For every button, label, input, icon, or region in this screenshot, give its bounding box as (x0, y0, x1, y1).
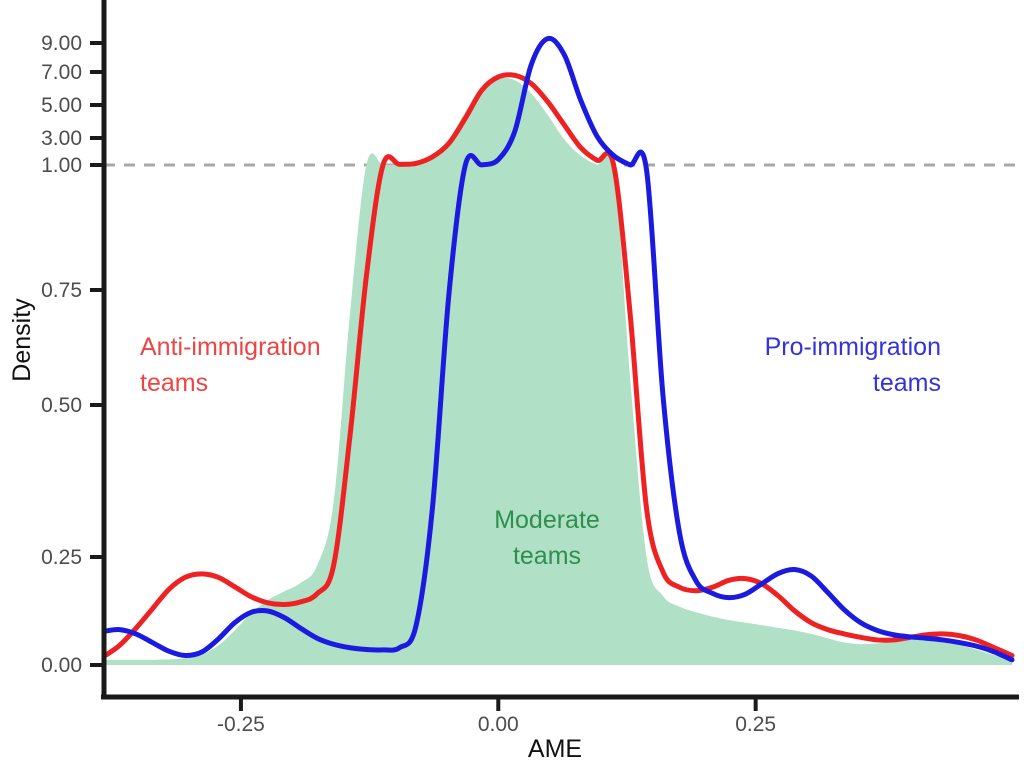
y-tick-label: 0.50 (41, 394, 82, 417)
density-plot-figure: 0.000.250.500.751.003.005.007.009.00 -0.… (0, 0, 1024, 768)
anti-immigration-label: teams (140, 369, 208, 397)
y-tick-label: 5.00 (41, 94, 82, 117)
y-axis-title: Density (8, 298, 36, 382)
anti-immigration-label: Anti-immigration (140, 333, 321, 361)
y-tick-label: 0.00 (41, 654, 82, 677)
y-tick-label: 3.00 (41, 127, 82, 150)
x-tick-label: 0.25 (735, 713, 776, 736)
plot-canvas: 0.000.250.500.751.003.005.007.009.00 -0.… (0, 0, 1024, 768)
x-tick-label: -0.25 (217, 713, 265, 736)
y-tick-label: 9.00 (41, 32, 82, 55)
pro-immigration-label: Pro-immigration (765, 333, 941, 361)
pro-immigration-label: teams (873, 369, 941, 397)
moderate-label: teams (513, 542, 581, 570)
x-axis-title: AME (528, 735, 582, 763)
moderate-label: Moderate (494, 506, 600, 534)
x-tick-label: 0.00 (478, 713, 519, 736)
y-tick-label: 7.00 (41, 61, 82, 84)
y-tick-label: 0.25 (41, 546, 82, 569)
y-tick-label: 1.00 (41, 154, 82, 177)
y-tick-label: 0.75 (41, 279, 82, 302)
